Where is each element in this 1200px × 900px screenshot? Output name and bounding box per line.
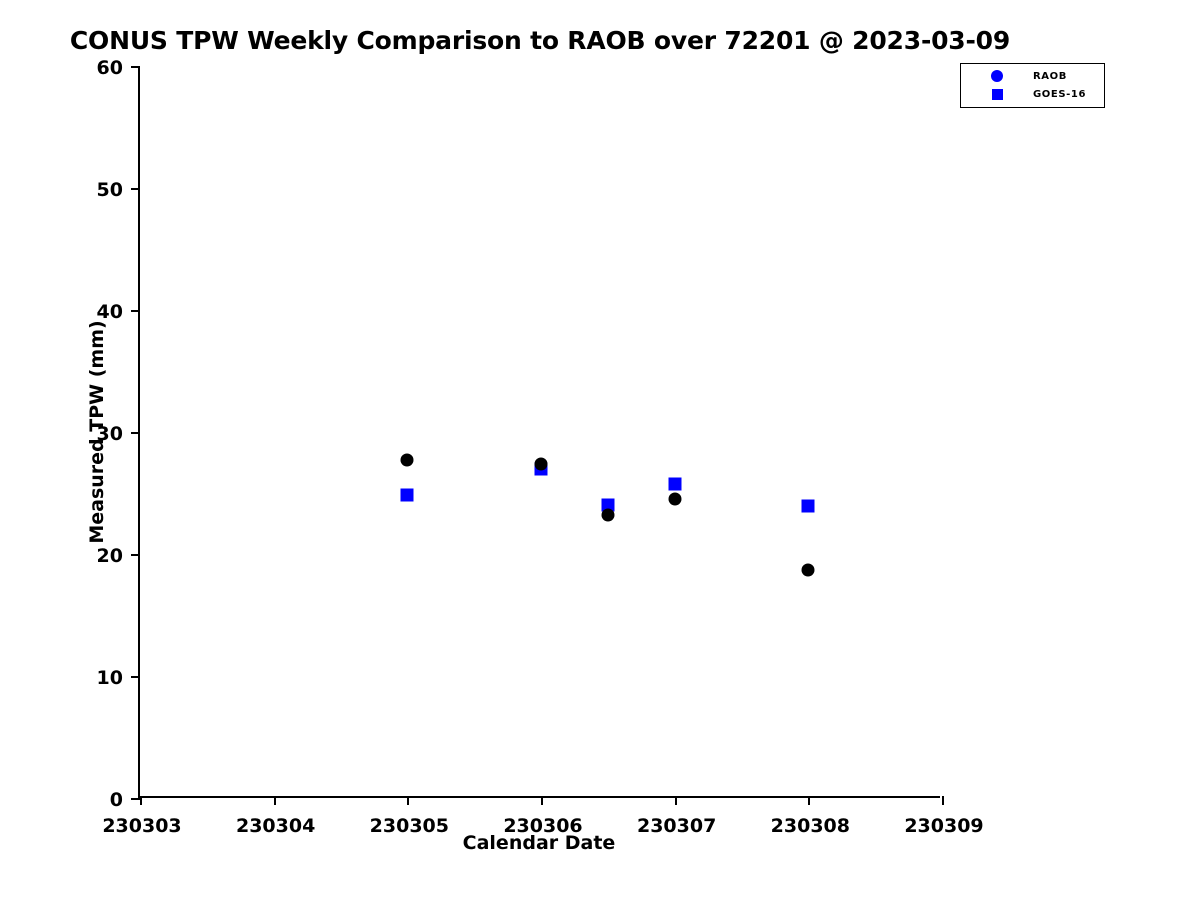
data-point-raob <box>401 454 414 467</box>
legend-label-goes16: GOES-16 <box>1033 89 1086 100</box>
data-point-goes-16 <box>668 478 681 491</box>
chart-legend: RAOB GOES-16 <box>960 63 1105 108</box>
legend-label-raob: RAOB <box>1033 71 1067 82</box>
data-point-raob <box>535 457 548 470</box>
x-tick-230303: 230303 <box>140 796 142 805</box>
plot-area: 0102030405060 23030323030423030523030623… <box>138 66 940 798</box>
data-point-goes-16 <box>802 500 815 513</box>
x-tick-230305: 230305 <box>407 796 409 805</box>
x-tick-230308: 230308 <box>808 796 810 805</box>
x-tick-230304: 230304 <box>274 796 276 805</box>
y-tick-0: 0 <box>131 798 140 800</box>
chart-title: CONUS TPW Weekly Comparison to RAOB over… <box>0 26 1080 55</box>
data-point-raob <box>802 563 815 576</box>
legend-circle-icon-raob <box>991 70 1003 82</box>
chart-figure: CONUS TPW Weekly Comparison to RAOB over… <box>0 0 1200 900</box>
data-point-raob <box>668 493 681 506</box>
x-tick-230307: 230307 <box>675 796 677 805</box>
x-axis-label: Calendar Date <box>138 832 940 854</box>
legend-item-raob[interactable]: RAOB <box>961 67 1104 85</box>
x-tick-230309: 230309 <box>942 796 944 805</box>
y-tick-30: 30 <box>131 432 140 434</box>
y-tick-10: 10 <box>131 676 140 678</box>
y-tick-40: 40 <box>131 310 140 312</box>
x-tick-230306: 230306 <box>541 796 543 805</box>
legend-marker-cell-goes16 <box>961 89 1033 100</box>
y-tick-50: 50 <box>131 188 140 190</box>
data-point-raob <box>601 508 614 521</box>
y-axis-label: Measured TPW (mm) <box>86 66 110 798</box>
y-tick-20: 20 <box>131 554 140 556</box>
legend-square-icon-goes16 <box>992 89 1003 100</box>
legend-marker-cell-raob <box>961 70 1033 82</box>
y-tick-60: 60 <box>131 66 140 68</box>
y-tick-label-0: 0 <box>110 789 123 811</box>
legend-item-goes16[interactable]: GOES-16 <box>961 85 1104 103</box>
data-point-goes-16 <box>401 489 414 502</box>
